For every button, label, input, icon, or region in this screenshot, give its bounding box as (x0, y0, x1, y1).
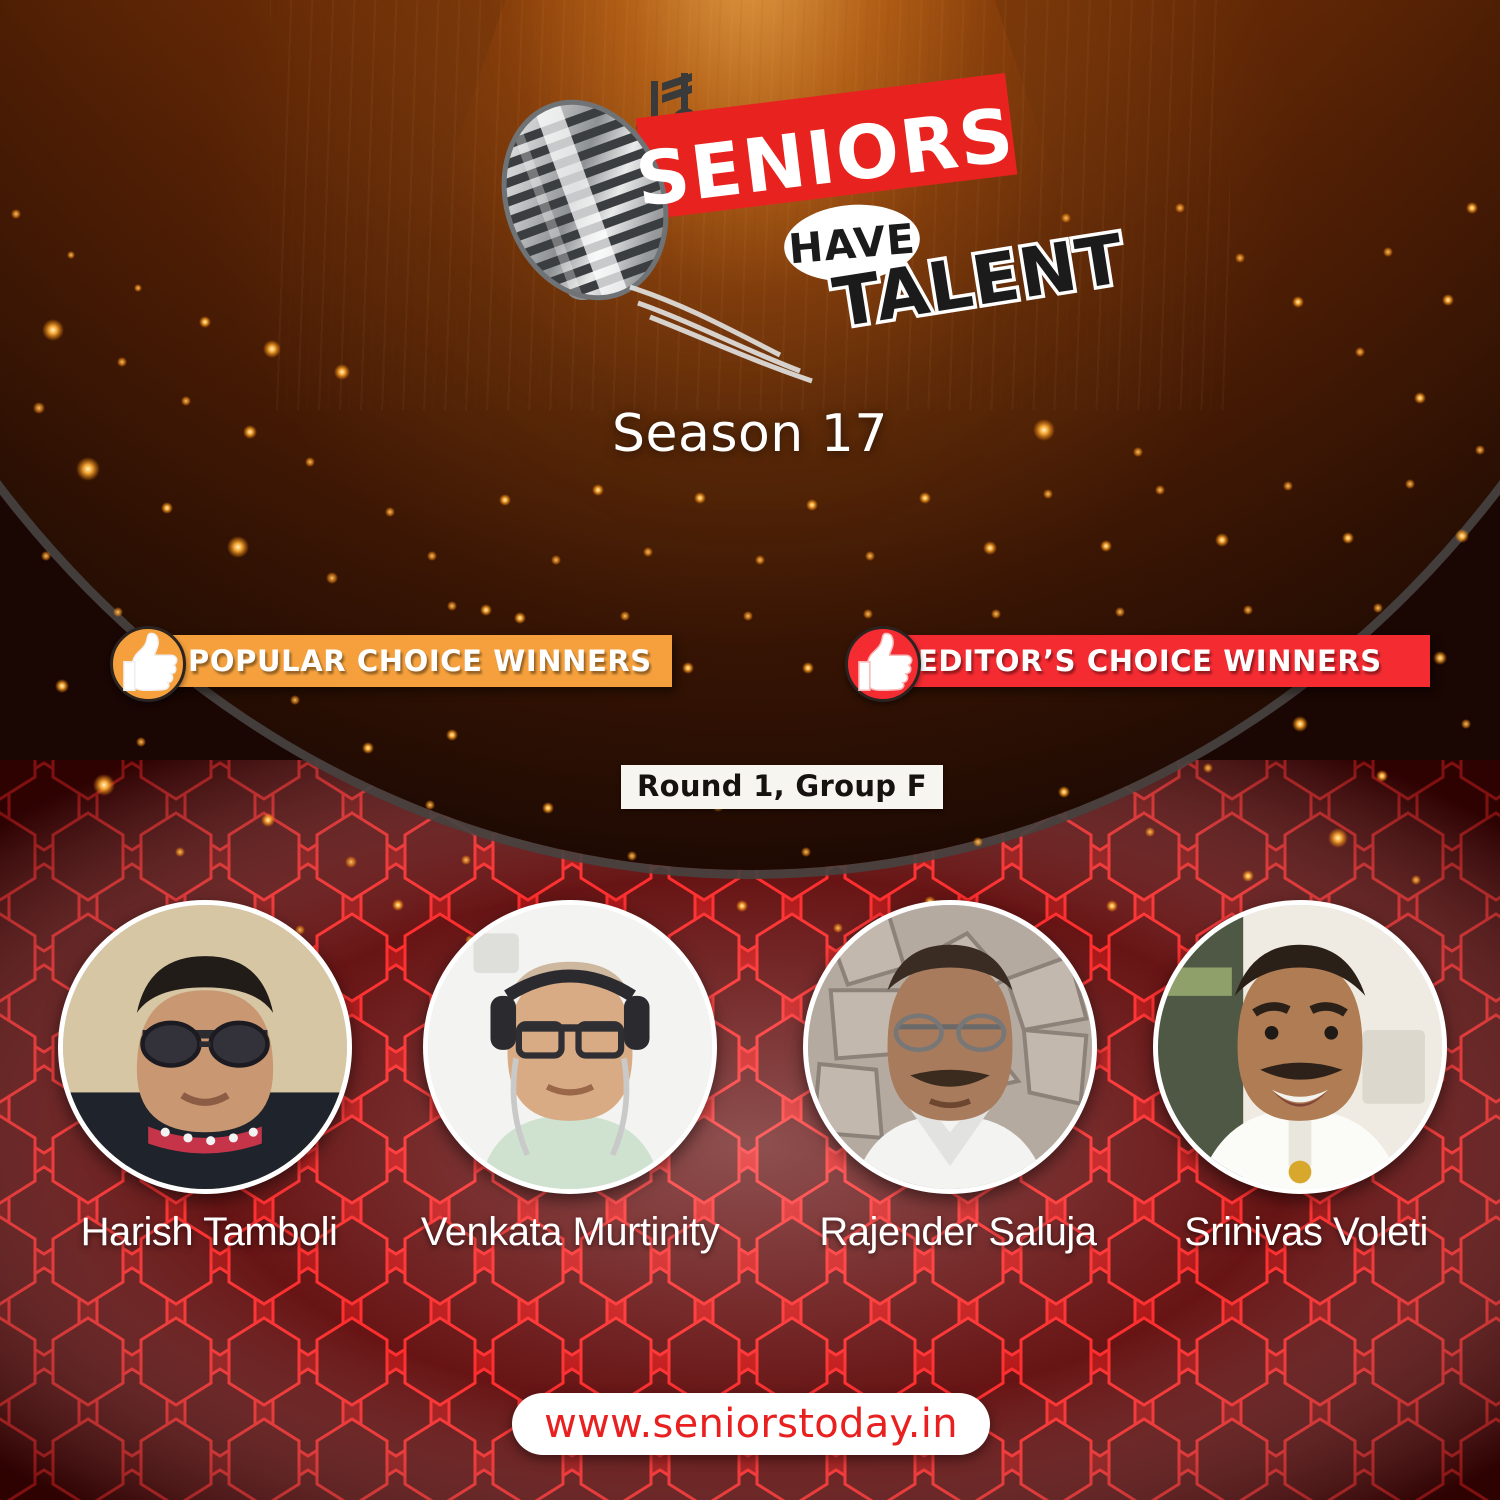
winner-name: Venkata Murtinity (420, 1210, 720, 1255)
editors-choice-winners-banner: EDITOR’S CHOICE WINNERS (878, 635, 1430, 687)
winner-name: Rajender Saluja (816, 1210, 1100, 1255)
poster-canvas: SENIORS HAVE TALENT Season 17 POPULAR CH… (0, 0, 1500, 1500)
website-url-text: www.seniorstoday.in (544, 1401, 958, 1447)
avatar (423, 900, 717, 1194)
winner-card: Harish Tamboli (55, 900, 355, 1255)
avatar (803, 900, 1097, 1194)
banner-label: EDITOR’S CHOICE WINNERS (878, 644, 1382, 678)
round-group-label: Round 1, Group F (621, 765, 943, 809)
winner-card: Srinivas Voleti (1150, 900, 1450, 1255)
seniors-have-talent-logo: SENIORS HAVE TALENT (480, 55, 1000, 385)
avatar (58, 900, 352, 1194)
winner-name: Harish Tamboli (63, 1210, 355, 1255)
website-url-pill[interactable]: www.seniorstoday.in (512, 1393, 990, 1455)
winner-name: Srinivas Voleti (1162, 1210, 1450, 1255)
banner-label: POPULAR CHOICE WINNERS (140, 644, 652, 678)
thumbs-up-icon (845, 626, 921, 702)
avatar (1153, 900, 1447, 1194)
season-title: Season 17 (0, 404, 1500, 464)
thumbs-up-icon (110, 626, 186, 702)
sound-swirl-icon (630, 287, 812, 381)
winners-row: Harish Tamboli (0, 900, 1500, 1300)
winner-card: Rajender Saluja (800, 900, 1100, 1255)
popular-choice-winners-banner: POPULAR CHOICE WINNERS (140, 635, 672, 687)
winner-card: Venkata Murtinity (420, 900, 720, 1255)
